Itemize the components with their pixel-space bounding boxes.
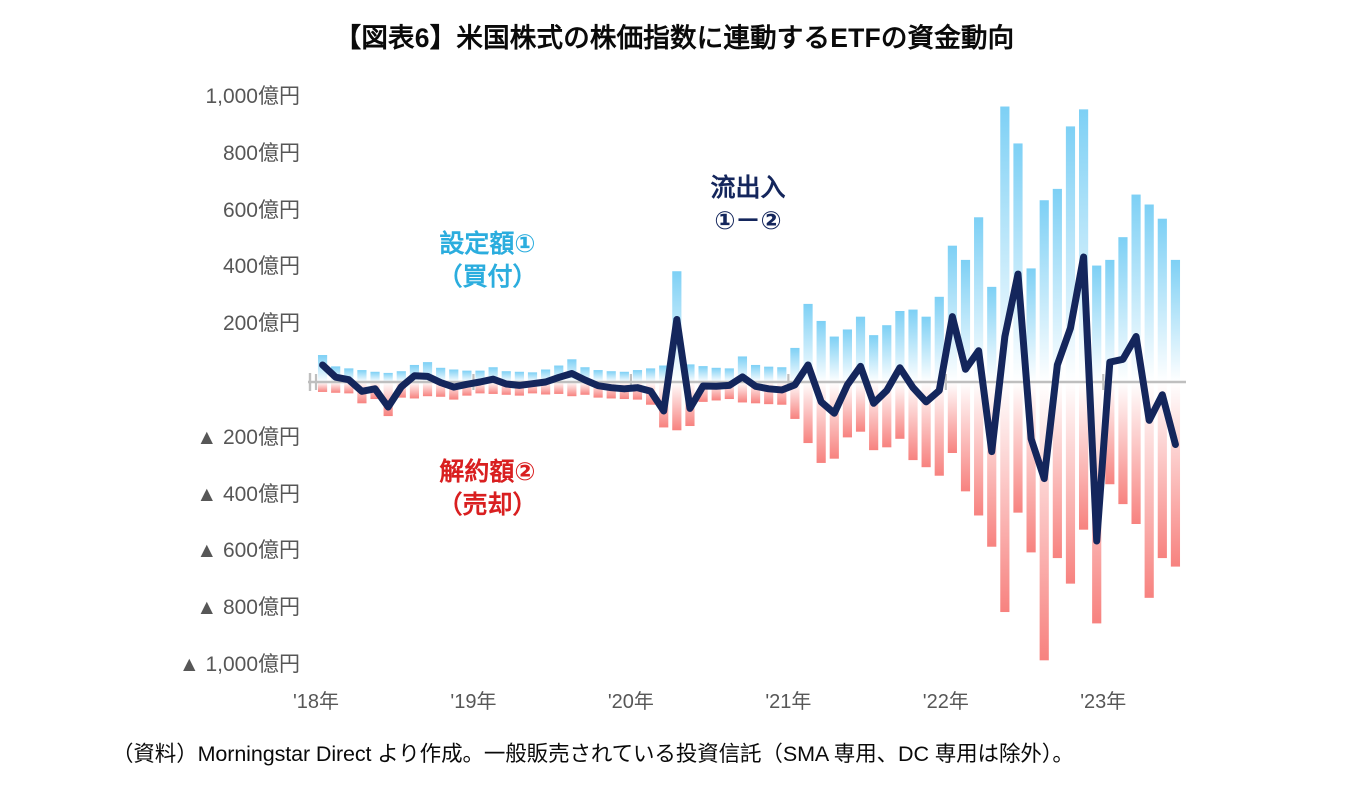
y-tick-label: 1,000億円 xyxy=(205,86,300,107)
bar-redemption xyxy=(1131,382,1140,524)
bar-subscription xyxy=(1040,200,1049,382)
bar-subscription xyxy=(882,325,891,382)
y-tick-label: ▲ 800億円 xyxy=(196,597,300,618)
bar-subscription xyxy=(1171,260,1180,382)
bar-redemption xyxy=(1066,382,1075,584)
bar-subscription xyxy=(357,370,366,382)
x-tick-label: '20年 xyxy=(571,692,691,712)
bar-subscription xyxy=(698,366,707,382)
y-tick-label: 800億円 xyxy=(223,143,300,164)
bar-redemption xyxy=(554,382,563,394)
bar-redemption xyxy=(738,382,747,402)
bar-redemption xyxy=(895,382,904,439)
y-tick-label: 400億円 xyxy=(223,256,300,277)
annotation-subscription-line2: （買付） xyxy=(375,261,600,294)
bar-subscription xyxy=(515,372,524,382)
annotation-redemption-line2: （売却） xyxy=(375,489,600,522)
bar-subscription xyxy=(830,337,839,382)
bar-subscription xyxy=(1145,205,1154,383)
x-tick-label: '23年 xyxy=(1043,692,1163,712)
bar-redemption xyxy=(331,382,340,393)
annotation-inflow-line2: ①－② xyxy=(638,205,858,238)
bar-subscription xyxy=(843,329,852,382)
bar-subscription xyxy=(1158,219,1167,382)
annotation-subscription-line1: 設定額① xyxy=(375,228,600,261)
bar-subscription xyxy=(384,373,393,382)
y-tick-label: 600億円 xyxy=(223,200,300,221)
bar-subscription xyxy=(777,367,786,382)
annotation-redemption-line1: 解約額② xyxy=(375,456,600,489)
annotation-inflow: 流出入 ①－② xyxy=(638,172,858,238)
bar-redemption xyxy=(1118,382,1127,504)
bar-subscription xyxy=(764,367,773,382)
bar-subscription xyxy=(817,321,826,382)
chart-plot-area: 1,000億円800億円600億円400億円200億円▲ 200億円▲ 400億… xyxy=(0,0,1349,799)
annotation-inflow-line1: 流出入 xyxy=(638,172,858,205)
annotation-redemption: 解約額② （売却） xyxy=(375,456,600,522)
y-tick-label: ▲ 400億円 xyxy=(196,484,300,505)
bar-redemption xyxy=(830,382,839,459)
bar-redemption xyxy=(567,382,576,396)
bar-subscription xyxy=(987,287,996,382)
bar-redemption xyxy=(1171,382,1180,567)
y-tick-label: ▲ 600億円 xyxy=(196,540,300,561)
bar-redemption xyxy=(948,382,957,453)
x-tick-label: '18年 xyxy=(256,692,376,712)
bar-redemption xyxy=(423,382,432,396)
bar-subscription xyxy=(594,370,603,382)
bar-redemption xyxy=(961,382,970,491)
bar-subscription xyxy=(869,335,878,382)
bar-subscription xyxy=(620,372,629,382)
x-tick-label: '21年 xyxy=(728,692,848,712)
x-tick-label: '19年 xyxy=(413,692,533,712)
bar-subscription xyxy=(1092,266,1101,382)
bar-subscription xyxy=(712,368,721,382)
bar-subscription xyxy=(370,372,379,382)
y-tick-label: ▲ 200億円 xyxy=(196,427,300,448)
bar-redemption xyxy=(672,382,681,430)
bar-subscription xyxy=(751,365,760,382)
y-tick-label: ▲ 1,000億円 xyxy=(179,654,300,675)
bar-redemption xyxy=(410,382,419,398)
bar-redemption xyxy=(1013,382,1022,513)
x-tick-label: '22年 xyxy=(886,692,1006,712)
bar-redemption xyxy=(318,382,327,392)
bar-redemption xyxy=(1079,382,1088,530)
bar-subscription xyxy=(449,370,458,383)
chart-svg xyxy=(0,0,1349,799)
chart-figure: 【図表6】米国株式の株価指数に連動するETFの資金動向 1,000億円800億円… xyxy=(0,0,1349,799)
bar-subscription xyxy=(607,371,616,382)
bar-subscription xyxy=(646,368,655,382)
y-tick-label: 200億円 xyxy=(223,313,300,334)
bar-redemption xyxy=(856,382,865,432)
annotation-subscription: 設定額① （買付） xyxy=(375,228,600,294)
source-note: （資料）Morningstar Direct より作成。一般販売されている投資信… xyxy=(112,737,1074,768)
bar-subscription xyxy=(908,310,917,382)
bar-subscription xyxy=(922,317,931,382)
bar-redemption xyxy=(1000,382,1009,612)
bar-redemption xyxy=(803,382,812,443)
bar-subscription xyxy=(633,370,642,382)
